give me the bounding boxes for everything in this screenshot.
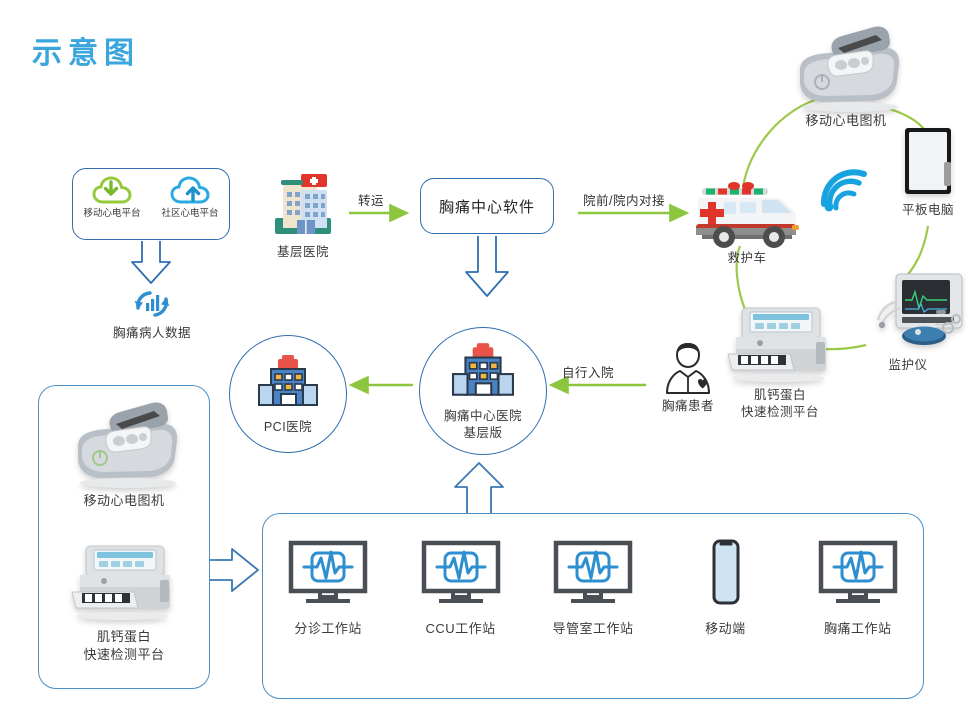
workstation-item-ccu-label: CCU工作站	[425, 620, 495, 638]
monitor-ecg-icon	[286, 540, 370, 606]
workstation-list: 分诊工作站 CCU工作站 导管室工作站	[262, 540, 924, 680]
workstation-item-chestpain-label: 胸痛工作站	[824, 620, 892, 638]
node-troponin-right[interactable]: 肌钙蛋白 快速检测平台	[710, 302, 850, 421]
mobile-ecg-device-icon	[64, 398, 184, 490]
workstation-item-mobile-label: 移动端	[705, 620, 746, 638]
monitor-ecg-icon	[419, 540, 503, 606]
hospital-circle-icon	[255, 353, 321, 413]
node-pci-hospital[interactable]: PCI医院	[229, 335, 347, 453]
tablet-icon	[902, 126, 954, 200]
mobile-ecg-device-icon	[786, 22, 906, 114]
page-title: 示意图	[32, 28, 140, 72]
ambulance-icon	[688, 180, 806, 250]
device-panel-item-troponin-label-2: 快速检测平台	[83, 646, 164, 664]
node-patient-monitor-label: 监护仪	[848, 357, 968, 374]
device-panel-item-troponin[interactable]: 肌钙蛋白 快速检测平台	[52, 540, 196, 663]
arrow-label-self-admission: 自行入院	[562, 362, 614, 381]
node-chest-pain-center-label-2: 基层版	[463, 425, 502, 442]
monitor-ecg-icon	[816, 540, 900, 606]
node-primary-hospital[interactable]: 基层医院	[253, 168, 353, 261]
cloud-upload-icon	[169, 175, 211, 207]
node-patient-data[interactable]: 胸痛病人数据	[96, 286, 208, 342]
arrow-workstations-to-center	[455, 463, 503, 513]
arrow-devices-to-workstations	[210, 549, 258, 591]
node-primary-hospital-label: 基层医院	[253, 244, 353, 261]
cloud-platform-mobile-label: 移动心电平台	[83, 208, 140, 221]
workstation-item-mobile[interactable]: 移动端	[665, 540, 785, 638]
patient-monitor-icon	[852, 272, 964, 356]
node-ambulance[interactable]: 救护车	[684, 180, 810, 267]
node-troponin-right-label-2: 快速检测平台	[710, 404, 850, 421]
cloud-platform-box[interactable]: 移动心电平台 社区心电平台	[72, 168, 230, 240]
troponin-analyzer-icon	[64, 540, 184, 624]
node-chest-pain-center[interactable]: 胸痛中心医院 基层版	[419, 327, 547, 455]
data-sync-icon	[130, 286, 174, 322]
node-ambulance-label: 救护车	[684, 250, 810, 267]
node-troponin-right-label-1: 肌钙蛋白	[710, 387, 850, 404]
cloud-platform-community[interactable]: 社区心电平台	[153, 175, 227, 221]
diagram-canvas: 示意图	[0, 0, 980, 716]
arrow-label-transfer: 转运	[358, 190, 384, 209]
node-mobile-ecg-right[interactable]: 移动心电图机	[778, 22, 914, 130]
node-wifi	[818, 168, 870, 212]
workstation-item-cathlab-label: 导管室工作站	[552, 620, 633, 638]
smartphone-icon	[683, 540, 767, 606]
node-tablet-label: 平板电脑	[886, 202, 970, 219]
wifi-icon	[818, 168, 870, 212]
node-software-box[interactable]: 胸痛中心软件	[420, 178, 554, 234]
node-patient-data-label: 胸痛病人数据	[96, 325, 208, 342]
workstation-item-triage-label: 分诊工作站	[294, 620, 362, 638]
node-pci-hospital-label: PCI医院	[264, 419, 312, 436]
device-panel-item-mobile-ecg-label: 移动心电图机	[83, 492, 164, 510]
device-panel-item-mobile-ecg[interactable]: 移动心电图机	[50, 398, 198, 510]
cloud-download-icon	[91, 175, 133, 207]
workstation-item-ccu[interactable]: CCU工作站	[401, 540, 521, 638]
arrow-label-prehospital: 院前/院内对接	[583, 190, 665, 209]
cloud-platform-mobile[interactable]: 移动心电平台	[75, 175, 149, 221]
workstation-item-chestpain[interactable]: 胸痛工作站	[798, 540, 918, 638]
workstation-item-cathlab[interactable]: 导管室工作站	[533, 540, 653, 638]
node-patient-monitor[interactable]: 监护仪	[848, 272, 968, 374]
node-chest-pain-center-label-1: 胸痛中心医院	[444, 408, 522, 425]
node-software-label: 胸痛中心软件	[439, 196, 535, 217]
node-tablet[interactable]: 平板电脑	[886, 126, 970, 219]
hospital-building-icon	[267, 168, 339, 242]
device-panel-item-troponin-label-1: 肌钙蛋白	[97, 628, 151, 646]
troponin-analyzer-icon	[720, 302, 840, 386]
hospital-circle-icon	[448, 341, 518, 403]
cloud-platform-community-label: 社区心电平台	[161, 208, 218, 221]
arrow-software-to-center	[466, 236, 508, 296]
arrow-clouds-to-data	[132, 241, 170, 283]
monitor-ecg-icon	[551, 540, 635, 606]
workstation-item-triage[interactable]: 分诊工作站	[268, 540, 388, 638]
